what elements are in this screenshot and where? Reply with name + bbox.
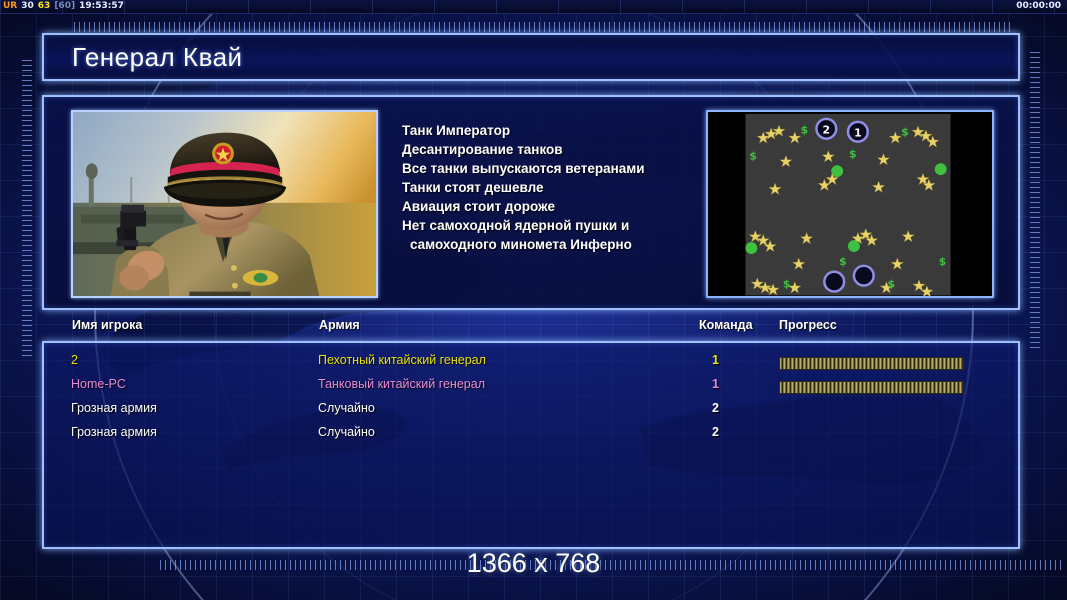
table-row[interactable]: Грозная армияСлучайно2 (44, 401, 1018, 425)
general-portrait-image (73, 112, 376, 298)
window-title-bar: Генерал Квай (42, 33, 1020, 81)
game-clock: 00:00:00 (1016, 1, 1061, 11)
stat-fps: 30 (21, 1, 34, 11)
stat-value: 63 (38, 1, 51, 11)
cell-team[interactable]: 2 (712, 425, 719, 439)
cell-team[interactable]: 2 (712, 401, 719, 415)
page-title: Генерал Квай (44, 42, 243, 73)
map-preview-frame[interactable]: $ $ $ $ $ $ $ $ $ (706, 110, 994, 298)
svg-text:$: $ (839, 255, 847, 268)
cell-army[interactable]: Пехотный китайский генерал (318, 353, 486, 367)
debug-status-bar: UR3063[60]19:53:57 00:00:00 (0, 0, 1067, 14)
stat-label: UR (3, 1, 17, 11)
cell-team[interactable]: 1 (712, 353, 719, 367)
table-row[interactable]: Грозная армияСлучайно2 (44, 425, 1018, 449)
header-army: Армия (319, 318, 360, 332)
svg-text:$: $ (939, 255, 947, 268)
game-screen: UR3063[60]19:53:57 00:00:00 Генерал Квай (0, 0, 1067, 600)
cell-player-name[interactable]: Home-PC (71, 377, 126, 391)
svg-text:$: $ (749, 149, 757, 162)
progress-bar (779, 381, 964, 394)
stat-bracket: [60] (54, 1, 75, 11)
ability-line: Танки стоят дешевле (402, 178, 722, 197)
cell-army[interactable]: Случайно (318, 401, 375, 415)
header-player-name: Имя игрока (72, 318, 142, 332)
svg-text:$: $ (887, 278, 895, 291)
ability-line: Десантирование танков (402, 140, 722, 159)
ability-line: Танк Император (402, 121, 722, 140)
ability-line: Нет самоходной ядерной пушки и (402, 216, 722, 235)
svg-text:1: 1 (854, 127, 862, 140)
status-bar-grid (0, 0, 1067, 13)
ability-line: Все танки выпускаются ветеранами (402, 159, 722, 178)
ruler-left (22, 60, 32, 360)
ability-line: Авиация стоит дороже (402, 197, 722, 216)
cell-army[interactable]: Случайно (318, 425, 375, 439)
resolution-label: 1366 x 768 (0, 548, 1067, 579)
svg-text:$: $ (801, 124, 809, 137)
general-ability-description: Танк Император Десантирование танков Все… (402, 121, 722, 254)
cell-army[interactable]: Танковый китайский генерал (318, 377, 485, 391)
table-row[interactable]: 2Пехотный китайский генерал1 (44, 353, 1018, 377)
ruler-top (74, 22, 1014, 32)
ruler-right (1030, 52, 1040, 352)
player-list: 2Пехотный китайский генерал1Home-PCТанко… (42, 341, 1020, 549)
progress-bar-fill (780, 358, 963, 369)
progress-bar (779, 357, 964, 370)
svg-text:$: $ (901, 126, 909, 139)
performance-stats: UR3063[60]19:53:57 (3, 1, 128, 11)
header-team: Команда (699, 318, 753, 332)
session-time: 19:53:57 (79, 1, 124, 11)
general-details-panel: Танк Император Десантирование танков Все… (42, 95, 1020, 310)
cell-player-name[interactable]: Грозная армия (71, 425, 157, 439)
progress-bar-fill (780, 382, 963, 393)
header-progress: Прогресс (779, 318, 837, 332)
map-preview-image: $ $ $ $ $ $ $ $ $ (708, 112, 992, 297)
ability-line: самоходного миномета Инферно (402, 235, 722, 254)
table-row[interactable]: Home-PCТанковый китайский генерал1 (44, 377, 1018, 401)
general-portrait-frame (71, 110, 378, 298)
cell-player-name[interactable]: Грозная армия (71, 401, 157, 415)
general-info-window: Генерал Квай (42, 33, 1020, 553)
svg-text:$: $ (849, 147, 857, 160)
svg-text:2: 2 (823, 124, 831, 137)
cell-team[interactable]: 1 (712, 377, 719, 391)
player-list-headers: Имя игрока Армия Команда Прогресс (42, 318, 1020, 340)
cell-player-name[interactable]: 2 (71, 353, 78, 367)
svg-text:$: $ (783, 278, 791, 291)
